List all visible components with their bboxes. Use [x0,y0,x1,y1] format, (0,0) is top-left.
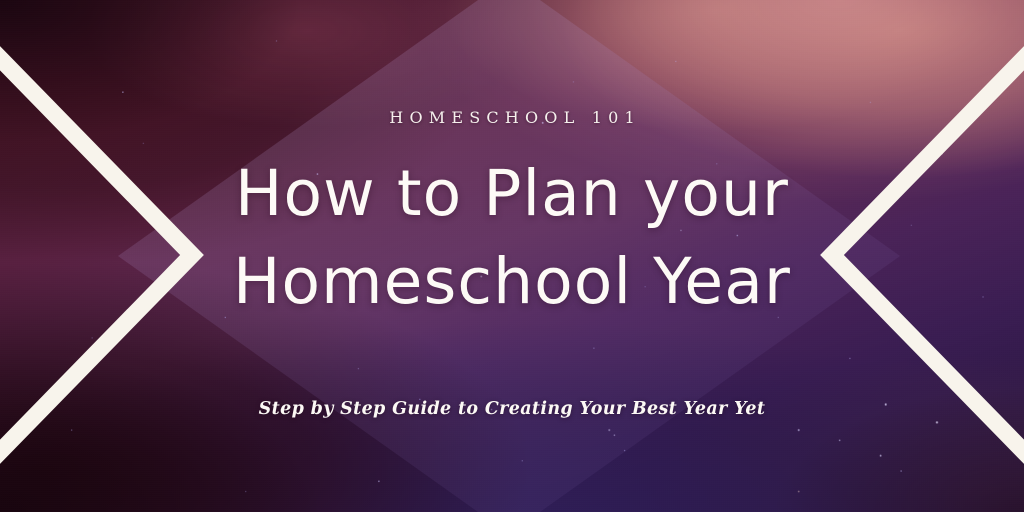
headline: How to Plan your Homeschool Year [233,150,791,326]
social-banner: HOMESCHOOL 101 How to Plan your Homescho… [0,0,1024,512]
headline-line-1: How to Plan your [233,150,791,238]
overline-label: HOMESCHOOL 101 [383,110,641,126]
headline-line-2: Homeschool Year [233,238,791,326]
banner-content: HOMESCHOOL 101 How to Plan your Homescho… [0,0,1024,512]
subtitle: Step by Step Guide to Creating Your Best… [259,399,766,419]
